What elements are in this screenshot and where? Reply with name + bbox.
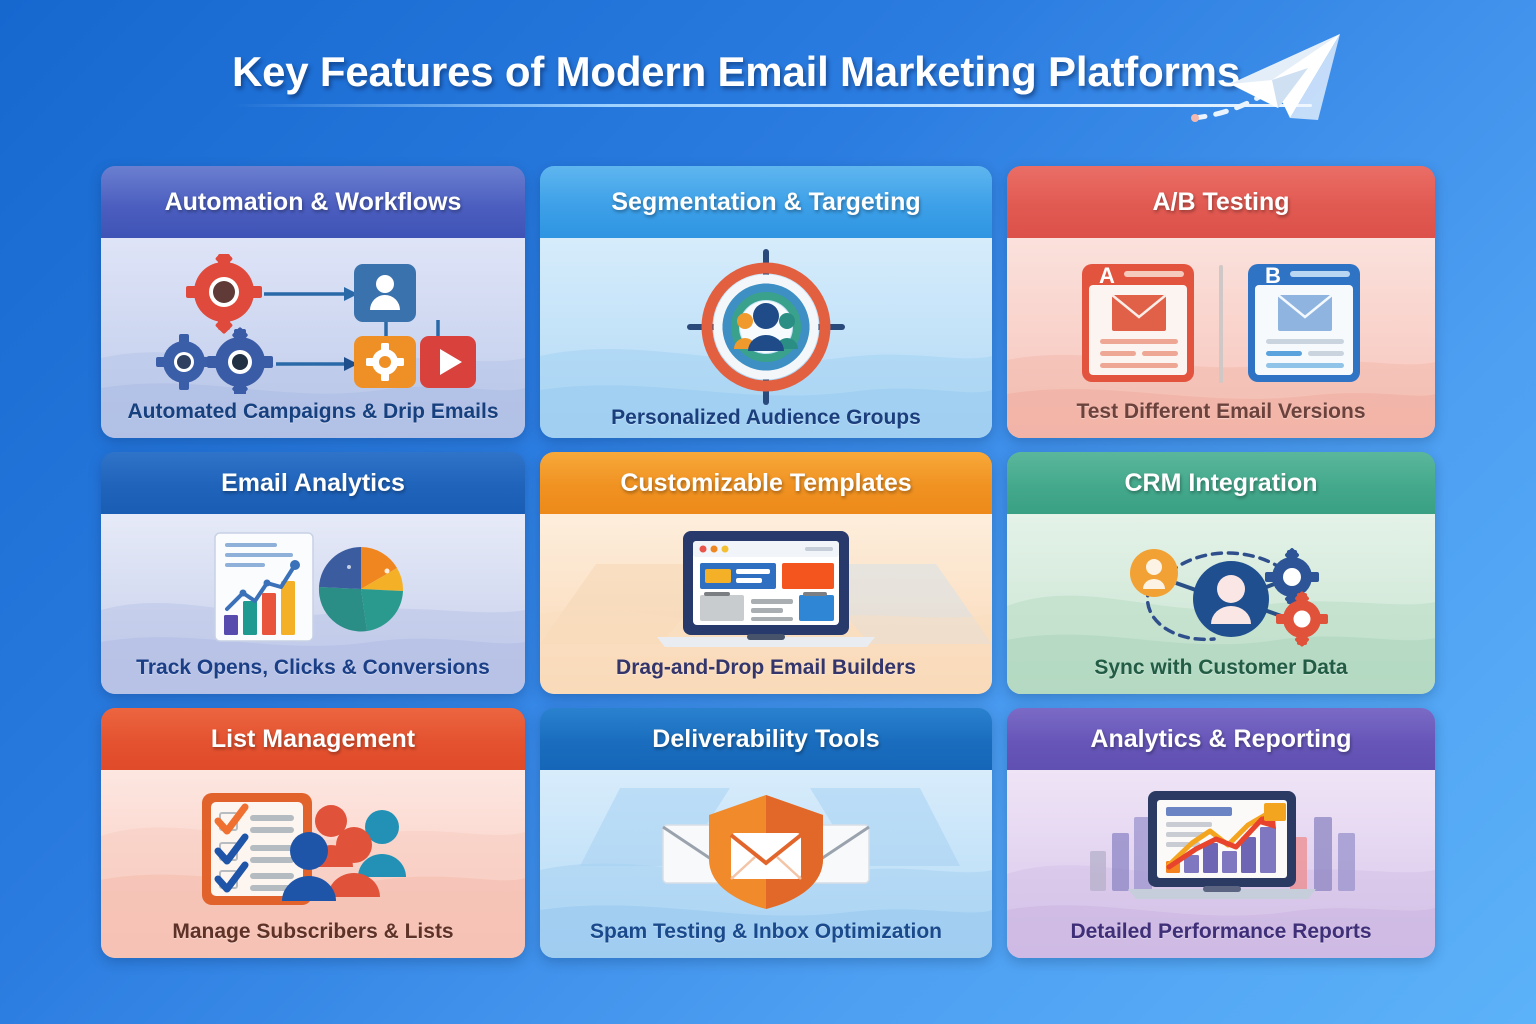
card-caption: Spam Testing & Inbox Optimization <box>590 920 942 944</box>
feature-grid: Automation & Workflows <box>101 166 1435 962</box>
card-title: A/B Testing <box>1007 166 1435 238</box>
feature-card-templates[interactable]: Customizable Templates <box>540 452 992 694</box>
page-title: Key Features of Modern Email Marketing P… <box>232 48 1232 96</box>
card-title: List Management <box>101 708 525 770</box>
card-title: Analytics & Reporting <box>1007 708 1435 770</box>
card-caption: Automated Campaigns & Drip Emails <box>127 400 498 424</box>
feature-card-deliverability[interactable]: Deliverability Tools <box>540 708 992 958</box>
shield-envelope-icon <box>540 780 992 920</box>
feature-card-automation[interactable]: Automation & Workflows <box>101 166 525 438</box>
target-audience-icon <box>540 248 992 406</box>
card-caption: Personalized Audience Groups <box>611 406 921 430</box>
feature-card-segmentation[interactable]: Segmentation & Targeting <box>540 166 992 438</box>
checklist-people-icon <box>101 780 525 920</box>
ab-compare-icon: A B <box>1007 248 1435 400</box>
card-title: Automation & Workflows <box>101 166 525 238</box>
laptop-growth-chart-icon <box>1007 780 1435 920</box>
feature-card-ab-testing[interactable]: A/B Testing A <box>1007 166 1435 438</box>
card-caption: Sync with Customer Data <box>1094 656 1347 680</box>
feature-card-crm[interactable]: CRM Integration <box>1007 452 1435 694</box>
feature-card-analytics-reporting[interactable]: Analytics & Reporting <box>1007 708 1435 958</box>
card-caption: Test Different Email Versions <box>1076 400 1365 424</box>
paper-plane-icon <box>1190 22 1360 132</box>
feature-card-email-analytics[interactable]: Email Analytics <box>101 452 525 694</box>
contacts-gears-icon <box>1007 524 1435 656</box>
card-caption: Track Opens, Clicks & Conversions <box>136 656 490 680</box>
card-title: Deliverability Tools <box>540 708 992 770</box>
gears-workflow-icon <box>101 248 525 400</box>
card-title: Customizable Templates <box>540 452 992 514</box>
variant-a-label: A <box>1099 263 1115 288</box>
card-caption: Drag-and-Drop Email Builders <box>616 656 916 680</box>
card-title: Email Analytics <box>101 452 525 514</box>
card-title: Segmentation & Targeting <box>540 166 992 238</box>
card-title: CRM Integration <box>1007 452 1435 514</box>
card-caption: Detailed Performance Reports <box>1070 920 1371 944</box>
page-header: Key Features of Modern Email Marketing P… <box>0 0 1536 150</box>
variant-b-label: B <box>1265 263 1281 288</box>
card-caption: Manage Subscribers & Lists <box>172 920 453 944</box>
feature-card-list-management[interactable]: List Management <box>101 708 525 958</box>
title-underline <box>232 104 1312 107</box>
bar-pie-chart-icon <box>101 524 525 656</box>
laptop-builder-icon <box>540 524 992 656</box>
